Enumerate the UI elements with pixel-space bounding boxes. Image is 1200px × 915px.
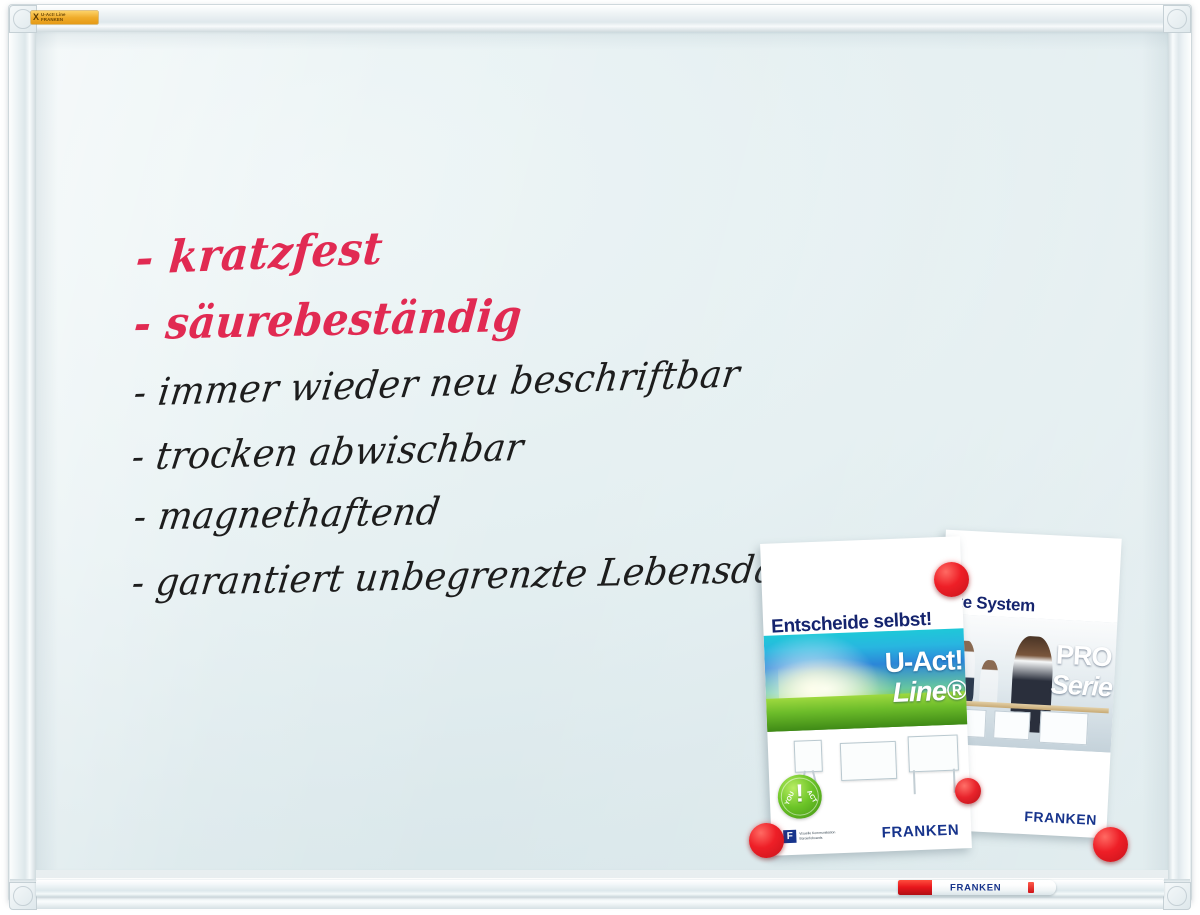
flipchart-board [794,740,823,773]
brochure-front-brand: FRANKEN [881,822,959,842]
handwriting-line-3: - immer wieder neu beschriftbar [132,356,742,413]
brochure-back-title-line1: PRO [1055,640,1112,674]
whiteboard-marker[interactable]: FRANKEN [898,880,1056,895]
handwriting-line-6: - garantiert unbegrenzte Lebensdauer [130,550,841,603]
wall-whiteboard [840,741,897,781]
whiteboard-product-photo: - kratzfest - säurebeständig - immer wie… [0,0,1200,915]
franken-f-logo: F Visuelle Kommunikation Büroinfoboards [783,828,836,843]
handwriting-line-2: - säurebeständig [132,294,523,346]
frame-corner-bottom-left [9,882,37,910]
f-logo-mark: F [783,830,796,843]
frame-corner-bottom-right [1163,882,1191,910]
brand-sticker: X U-Act! Line FRANKEN [31,11,98,24]
frame-rail-right [1168,8,1190,902]
frame-corner-top-right [1163,5,1191,33]
person-seated [979,660,999,707]
corner-arc [1167,886,1187,906]
seal-exclamation: ! [795,781,804,806]
whiteboard-panel-3 [1039,711,1089,745]
brochure-back-brand: FRANKEN [1024,808,1097,828]
handwriting-line-1: - kratzfest [134,226,384,281]
red-magnet-bottom-left[interactable] [749,823,784,858]
whiteboard-panel-2 [993,710,1030,740]
handwriting-line-4: - trocken abwischbar [129,429,525,476]
marker-end-plug [1028,882,1034,893]
corner-arc [13,9,33,29]
brochure-back-title-line2: Serie [1050,669,1113,703]
mobile-board-leg-left [913,770,916,794]
brand-sticker-mark: X [33,13,39,22]
corner-arc [13,886,33,906]
frame-rail-top [10,6,1190,32]
red-magnet-bottom-right[interactable] [1093,827,1128,862]
f-logo-text-line2: Büroinfoboards [799,835,822,840]
handwriting-line-5: - magnethaftend [131,494,442,537]
brand-sticker-line2: FRANKEN [41,17,63,22]
corner-arc [1167,9,1187,29]
red-magnet-mid-right[interactable] [955,778,981,804]
marker-brand-label: FRANKEN [950,882,1001,893]
brochure-front-title-line2: Line® [892,674,966,709]
frame-rail-left [10,8,36,902]
marker-cap-icon [898,880,932,895]
red-magnet-top-right[interactable] [934,562,969,597]
u-act-seal-icon: ! YOU ACT [777,774,823,820]
mobile-whiteboard [908,735,959,773]
